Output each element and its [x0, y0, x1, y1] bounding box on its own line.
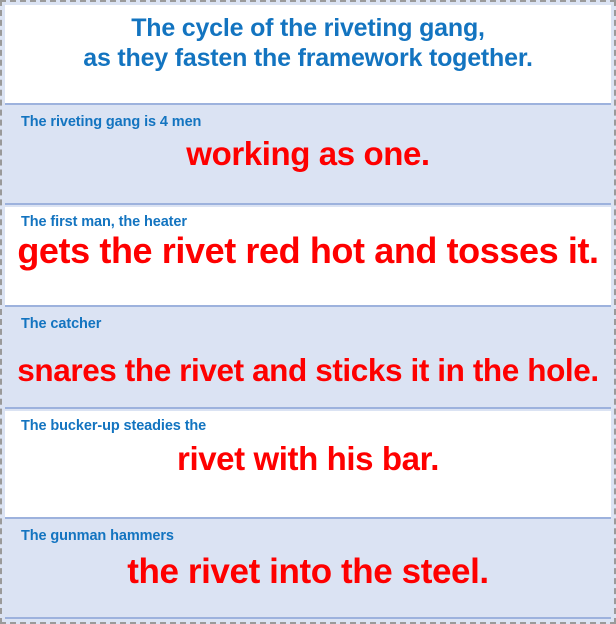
- step-phrase-1: working as one.: [15, 137, 601, 170]
- step-phrase-4: rivet with his bar.: [15, 442, 601, 475]
- step-band-2: The first man, the heater gets the rivet…: [5, 207, 611, 307]
- step-label-2: The first man, the heater: [21, 215, 187, 231]
- step-band-3: The catcher snares the rivet and sticks …: [5, 309, 611, 409]
- step-phrase-5: the rivet into the steel.: [15, 554, 601, 589]
- step-label-3: The catcher: [21, 317, 101, 333]
- step-phrase-3: snares the rivet and sticks it in the ho…: [15, 355, 601, 387]
- step-label-5: The gunman hammers: [21, 529, 174, 545]
- page-title: The cycle of the riveting gang, as they …: [83, 13, 532, 74]
- step-band-4: The bucker-up steadies the rivet with hi…: [5, 411, 611, 519]
- title-band: The cycle of the riveting gang, as they …: [5, 5, 611, 105]
- step-phrase-2: gets the rivet red hot and tosses it.: [15, 233, 601, 269]
- step-band-1: The riveting gang is 4 men working as on…: [5, 107, 611, 205]
- step-label-4: The bucker-up steadies the: [21, 419, 206, 435]
- step-label-1: The riveting gang is 4 men: [21, 115, 201, 131]
- step-band-5: The gunman hammers the rivet into the st…: [5, 521, 611, 619]
- slide-canvas: The cycle of the riveting gang, as they …: [0, 0, 616, 624]
